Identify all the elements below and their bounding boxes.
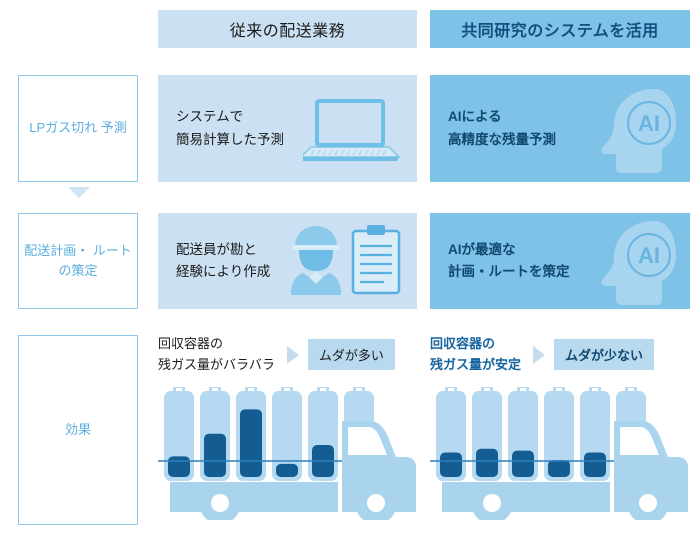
cylinder-fill (512, 451, 534, 477)
ai-icon-text: AI (638, 111, 660, 136)
cylinder-fill (584, 453, 606, 477)
stage-box-effect: 効果 (18, 335, 138, 525)
column-header-legacy-label: 従来の配送業務 (230, 17, 346, 41)
gas-cylinder (580, 387, 610, 481)
ai-head-icon: AI (594, 83, 680, 175)
truck-illustration-legacy (158, 385, 420, 520)
gas-cylinder (236, 387, 266, 481)
cylinder-fill (204, 434, 226, 477)
arrow-right-icon (533, 346, 545, 364)
stage-box-route-planning: 配送計画・ ルートの策定 (18, 213, 138, 309)
gas-cylinder (200, 387, 230, 481)
stage-box-prediction-label: LPガス切れ 予測 (29, 118, 127, 138)
gas-cylinder (308, 387, 338, 481)
gas-cylinder (472, 387, 502, 481)
stage-box-route-planning-label: 配送計画・ ルートの策定 (19, 241, 137, 281)
column-header-legacy: 従来の配送業務 (158, 10, 417, 48)
cylinder-fill (476, 449, 498, 477)
panel-legacy-route: 配送員が勘と 経験により作成 (158, 213, 417, 309)
truck-with-cylinders (430, 385, 692, 520)
column-header-modern: 共同研究のシステムを活用 (430, 10, 690, 48)
panel-modern-route-text: AIが最適な 計画・ルートを策定 (430, 239, 570, 284)
arrow-right-icon (287, 346, 299, 364)
panel-modern-prediction-text: AIによる 高精度な残量予測 (430, 106, 556, 151)
stage-box-prediction: LPガス切れ 予測 (18, 75, 138, 182)
effect-modern-head: 回収容器の 残ガス量が安定 ムダが少ない (430, 334, 654, 376)
comparison-diagram: 従来の配送業務 共同研究のシステムを活用 LPガス切れ 予測 配送計画・ ルート… (0, 0, 700, 542)
ai-head-icon: AI (594, 215, 680, 307)
gas-cylinder (436, 387, 466, 481)
column-header-modern-label: 共同研究のシステムを活用 (461, 17, 659, 41)
cylinder-fill (548, 460, 570, 477)
stage-box-effect-label: 効果 (65, 420, 91, 440)
panel-modern-prediction: AIによる 高精度な残量予測 AI (430, 75, 690, 182)
cylinder-fill (440, 453, 462, 477)
delivery-worker-clipboard-icon (283, 221, 407, 301)
cylinder-fill (240, 409, 262, 477)
truck-with-cylinders (158, 385, 420, 520)
truck-illustration-modern (430, 385, 692, 520)
panel-legacy-prediction-text: システムで 簡易計算した予測 (158, 106, 284, 151)
effect-legacy-label: 回収容器の 残ガス量がバラバラ (158, 334, 275, 376)
panel-modern-route: AIが最適な 計画・ルートを策定 AI (430, 213, 690, 309)
gas-cylinder (544, 387, 574, 481)
ai-icon-text: AI (638, 243, 660, 268)
cylinder-fill (168, 456, 190, 477)
effect-modern-label: 回収容器の 残ガス量が安定 (430, 334, 521, 376)
laptop-icon (303, 93, 407, 165)
gas-cylinder (272, 387, 302, 481)
effect-legacy-badge: ムダが多い (308, 339, 395, 370)
cylinder-fill (276, 464, 298, 477)
flow-arrow-down-icon (68, 187, 90, 198)
effect-legacy-head: 回収容器の 残ガス量がバラバラ ムダが多い (158, 334, 395, 376)
gas-cylinder (508, 387, 538, 481)
panel-legacy-route-text: 配送員が勘と 経験により作成 (158, 239, 270, 284)
effect-modern-badge: ムダが少ない (554, 339, 654, 370)
gas-cylinder (164, 387, 194, 481)
panel-legacy-prediction: システムで 簡易計算した予測 (158, 75, 417, 182)
